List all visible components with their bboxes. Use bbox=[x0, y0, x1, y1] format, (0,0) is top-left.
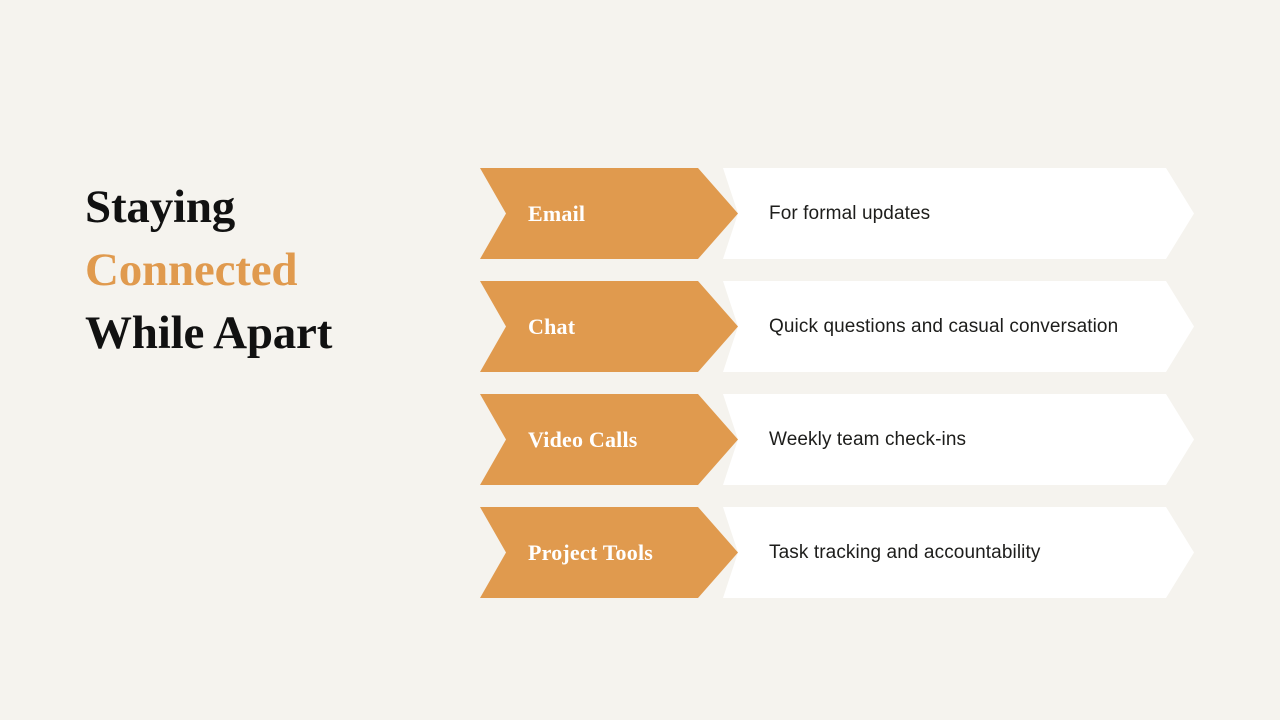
description-panel: For formal updates bbox=[723, 168, 1194, 259]
description-panel: Task tracking and accountability bbox=[723, 507, 1194, 598]
row-description: Task tracking and accountability bbox=[769, 542, 1040, 564]
row-description: For formal updates bbox=[769, 203, 930, 225]
title-line-2-accent: Connected bbox=[85, 239, 445, 302]
description-panel: Weekly team check-ins bbox=[723, 394, 1194, 485]
chevron-row: Task tracking and accountability Project… bbox=[480, 507, 1194, 598]
row-label: Video Calls bbox=[528, 427, 638, 453]
label-chevron[interactable]: Email bbox=[480, 168, 738, 259]
title-line-1: Staying bbox=[85, 176, 445, 239]
row-label: Chat bbox=[528, 314, 575, 340]
row-label: Project Tools bbox=[528, 540, 653, 566]
label-chevron[interactable]: Chat bbox=[480, 281, 738, 372]
label-chevron[interactable]: Project Tools bbox=[480, 507, 738, 598]
row-description: Quick questions and casual conversation bbox=[769, 316, 1118, 338]
chevron-row: For formal updates Email bbox=[480, 168, 1194, 259]
chevron-row: Quick questions and casual conversation … bbox=[480, 281, 1194, 372]
label-chevron[interactable]: Video Calls bbox=[480, 394, 738, 485]
slide: Staying Connected While Apart For formal… bbox=[0, 0, 1280, 720]
description-panel: Quick questions and casual conversation bbox=[723, 281, 1194, 372]
page-title: Staying Connected While Apart bbox=[85, 176, 445, 365]
chevron-row: Weekly team check-ins Video Calls bbox=[480, 394, 1194, 485]
row-label: Email bbox=[528, 201, 585, 227]
row-description: Weekly team check-ins bbox=[769, 429, 966, 451]
title-line-3: While Apart bbox=[85, 302, 445, 365]
